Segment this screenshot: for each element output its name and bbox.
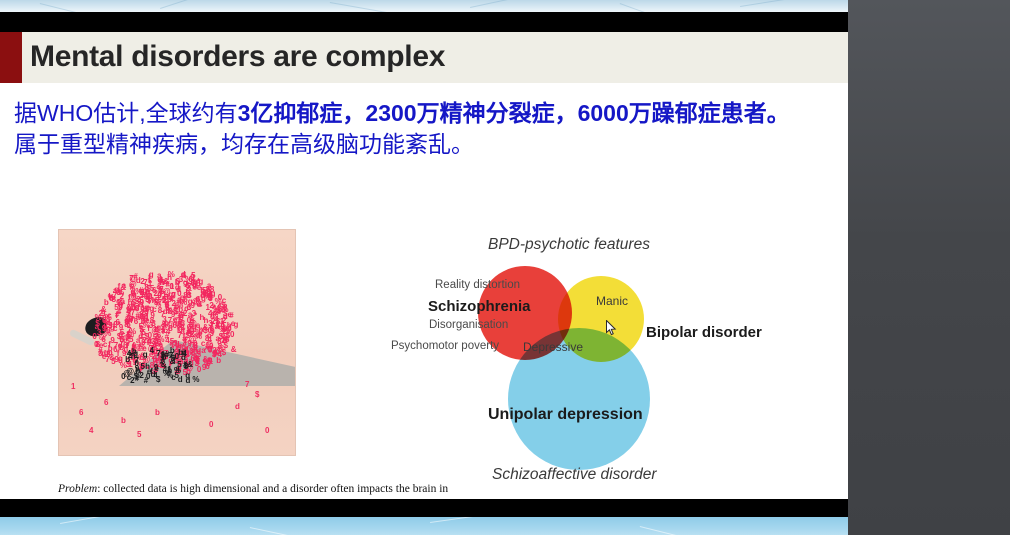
- meeting-side-panel: 研究员: [848, 0, 1010, 535]
- body-line-1: 据WHO估计,全球约有3亿抑郁症，2300万精神分裂症，6000万躁郁症患者。: [14, 98, 834, 129]
- screen-share-view: Mental disorders are complex 据WHO估计,全球约有…: [0, 0, 1010, 535]
- letterbox-bottom: [0, 499, 848, 517]
- presentation-slide: Mental disorders are complex 据WHO估计,全球约有…: [0, 32, 848, 517]
- venn-label-manic: Manic: [596, 294, 628, 308]
- backdrop-bottom-strip: [0, 517, 848, 535]
- title-accent-block: [0, 32, 22, 83]
- venn-diagram: BPD-psychotic features Reality distortio…: [400, 228, 840, 498]
- venn-label-schizophrenia: Schizophrenia: [428, 298, 531, 315]
- slide-body-text: 据WHO估计,全球约有3亿抑郁症，2300万精神分裂症，6000万躁郁症患者。 …: [14, 98, 834, 160]
- page-title: Mental disorders are complex: [30, 40, 445, 74]
- mouse-cursor-icon: [606, 320, 617, 336]
- venn-label-bipolar-disorder: Bipolar disorder: [646, 324, 762, 341]
- venn-label-schizoaffective: Schizoaffective disorder: [492, 466, 657, 484]
- body-line-1-bold: 3亿抑郁症，2300万精神分裂症，6000万躁郁症患者。: [238, 100, 790, 126]
- illustration-data-overwhelm: e0a$938hd4f#f9g$88ha4#@8*4b%ceg3a5#d*3#b…: [58, 229, 296, 456]
- venn-label-unipolar-depression: Unipolar depression: [488, 406, 643, 424]
- venn-label-bpd-psychotic: BPD-psychotic features: [488, 236, 650, 254]
- venn-label-depressive: Depressive: [523, 340, 583, 354]
- venn-label-disorganisation: Disorganisation: [429, 319, 508, 331]
- venn-label-reality-distortion: Reality distortion: [435, 279, 520, 291]
- body-line-1-plain: 据WHO估计,全球约有: [14, 100, 238, 126]
- caption-emphasis: Problem: [58, 483, 97, 495]
- venn-label-psychomotor-poverty: Psychomotor poverty: [391, 340, 499, 352]
- backdrop-top-strip: [0, 0, 848, 12]
- body-line-2: 属于重型精神疾病，均存在高级脑功能紊乱。: [14, 129, 834, 160]
- letterbox-top: [0, 12, 848, 32]
